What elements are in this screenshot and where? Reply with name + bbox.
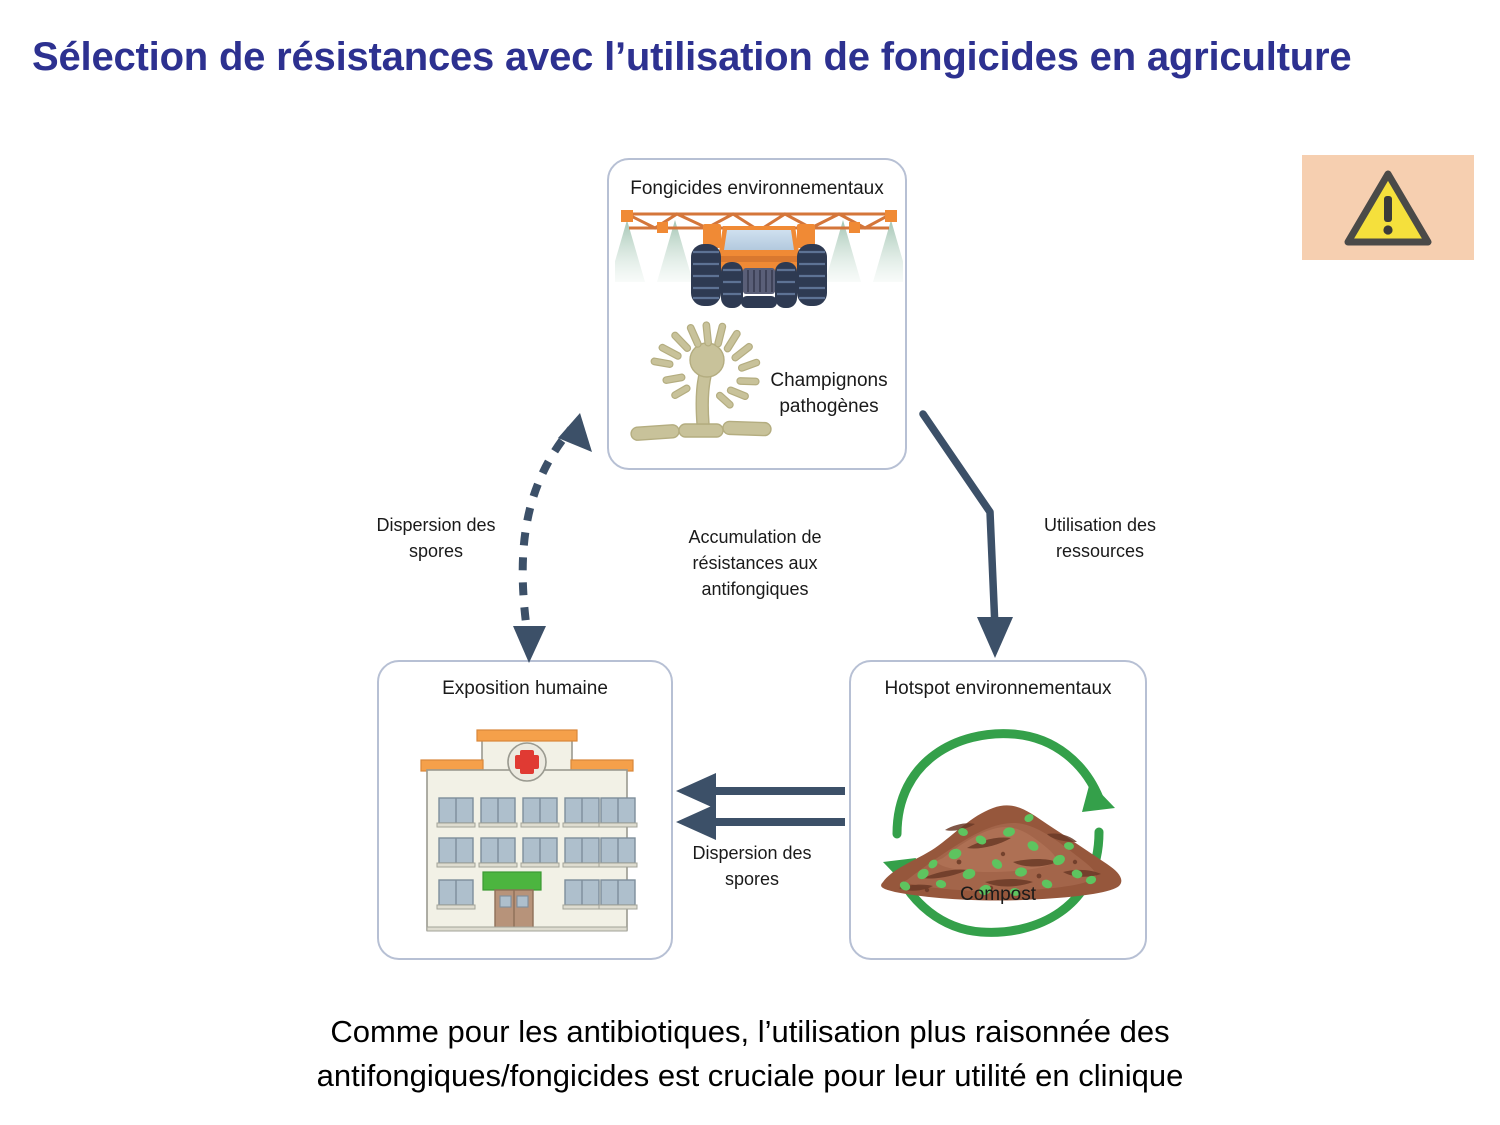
- box-top-title: Fongicides environnementaux: [609, 178, 905, 200]
- arrow-dispersion-spores-bottom-2: [676, 804, 845, 840]
- dispersion-top-line-1: Dispersion des: [346, 512, 526, 538]
- page-title: Sélection de résistances avec l’utilisat…: [32, 34, 1472, 80]
- champignons-pathogenes-label: Champignons pathogènes: [749, 368, 909, 419]
- dispersion-bottom-line-1: Dispersion des: [664, 840, 840, 866]
- accumulation-line-3: antifongiques: [650, 576, 860, 602]
- label-utilisation-ressources: Utilisation des ressources: [1008, 512, 1192, 564]
- box-right-title: Hotspot environnementaux: [851, 678, 1145, 700]
- dispersion-bottom-line-2: spores: [664, 866, 840, 892]
- arrow-dispersion-spores-bottom-1: [676, 773, 845, 809]
- sprayer-tractor-icon: [615, 204, 903, 314]
- box-fongicides-environnementaux[interactable]: Fongicides environnementaux: [607, 158, 907, 470]
- label-dispersion-spores-bottom: Dispersion des spores: [664, 840, 840, 892]
- box-exposition-humaine[interactable]: Exposition humaine: [377, 660, 673, 960]
- bottom-caption: Comme pour les antibiotiques, l’utilisat…: [150, 1010, 1350, 1098]
- slide-root: Sélection de résistances avec l’utilisat…: [0, 0, 1500, 1125]
- label-dispersion-spores-top: Dispersion des spores: [346, 512, 526, 564]
- warning-triangle-icon: [1342, 168, 1434, 248]
- champignons-line-2: pathogènes: [749, 394, 909, 420]
- box-hotspot-environnementaux[interactable]: Hotspot environnementaux: [849, 660, 1147, 960]
- dispersion-top-line-2: spores: [346, 538, 526, 564]
- box-left-title: Exposition humaine: [379, 678, 671, 700]
- warning-badge: [1302, 155, 1474, 260]
- arrow-utilisation-ressources: [923, 414, 1013, 658]
- utilisation-line-1: Utilisation des: [1008, 512, 1192, 538]
- utilisation-line-2: ressources: [1008, 538, 1192, 564]
- hospital-building-icon: [407, 720, 647, 942]
- compost-label: Compost: [851, 884, 1145, 906]
- caption-line-2: antifongiques/fongicides est cruciale po…: [150, 1054, 1350, 1098]
- label-accumulation-resistances: Accumulation de résistances aux antifong…: [650, 524, 860, 602]
- champignons-line-1: Champignons: [749, 368, 909, 394]
- caption-line-1: Comme pour les antibiotiques, l’utilisat…: [150, 1010, 1350, 1054]
- accumulation-line-2: résistances aux: [650, 550, 860, 576]
- compost-pile-icon: [863, 712, 1135, 952]
- accumulation-line-1: Accumulation de: [650, 524, 860, 550]
